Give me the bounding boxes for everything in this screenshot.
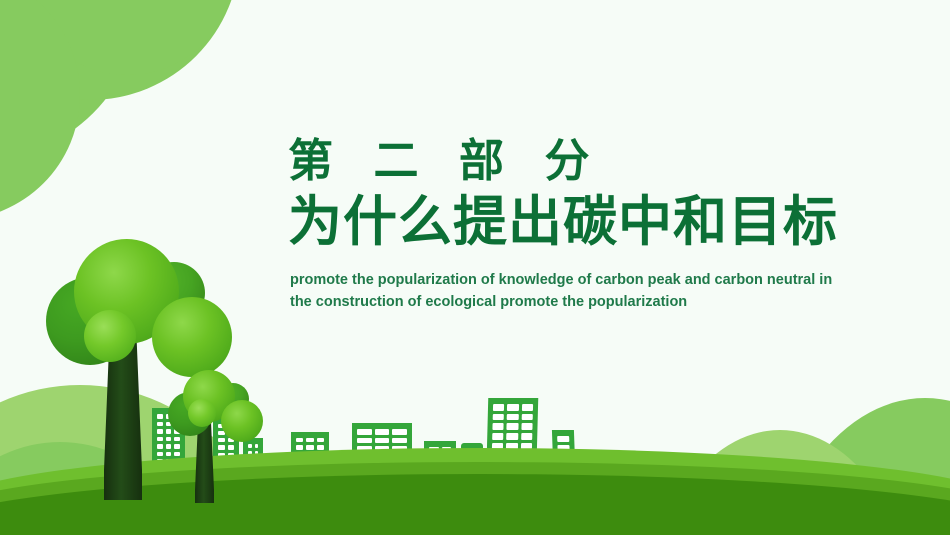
building-window bbox=[557, 436, 569, 442]
building-window bbox=[375, 438, 390, 444]
building-window bbox=[521, 414, 533, 421]
section-number-title: 第 二 部 分 bbox=[288, 134, 888, 187]
building-window bbox=[357, 438, 372, 444]
building-window bbox=[506, 433, 518, 440]
small-tree-leaf-small-left bbox=[188, 399, 216, 427]
building-window bbox=[392, 438, 407, 444]
building-window bbox=[492, 433, 504, 440]
building-window bbox=[507, 423, 519, 430]
building-window bbox=[255, 444, 259, 448]
building-window bbox=[375, 429, 390, 435]
building-window bbox=[174, 452, 180, 457]
building-window bbox=[392, 429, 407, 435]
building-window bbox=[166, 429, 172, 434]
building-window bbox=[296, 445, 303, 449]
big-tree-leaf-right bbox=[152, 297, 232, 377]
building-window bbox=[296, 438, 303, 442]
building-window bbox=[521, 423, 533, 430]
title-text-block: 第 二 部 分 为什么提出碳中和目标 promote the populariz… bbox=[288, 134, 888, 314]
building-window bbox=[507, 404, 519, 411]
section-subtitle: promote the popularization of knowledge … bbox=[290, 269, 850, 314]
building-window bbox=[157, 414, 163, 419]
building-window bbox=[507, 414, 519, 421]
small-tree-leaf-right bbox=[221, 400, 263, 442]
building-window bbox=[306, 445, 313, 449]
section-main-title: 为什么提出碳中和目标 bbox=[288, 191, 888, 255]
building-window bbox=[157, 444, 163, 449]
building-window bbox=[157, 437, 163, 442]
building-window bbox=[521, 433, 533, 440]
building-window bbox=[157, 422, 163, 427]
building-window bbox=[174, 444, 180, 449]
building-window bbox=[174, 437, 180, 442]
building-window bbox=[306, 438, 313, 442]
building-window bbox=[493, 404, 505, 411]
building-window bbox=[166, 437, 172, 442]
building-window bbox=[157, 429, 163, 434]
building-window bbox=[218, 438, 225, 442]
building-window bbox=[218, 445, 225, 449]
building-window bbox=[248, 444, 252, 448]
building-window bbox=[228, 445, 235, 449]
building-window bbox=[492, 423, 504, 430]
building-window bbox=[166, 452, 172, 457]
building-window bbox=[493, 414, 505, 421]
building-window bbox=[157, 452, 163, 457]
big-tree-leaf-small-left bbox=[84, 310, 136, 362]
building-window bbox=[357, 429, 372, 435]
building-window bbox=[166, 444, 172, 449]
slide-canvas: 第 二 部 分 为什么提出碳中和目标 promote the populariz… bbox=[0, 0, 950, 535]
building-window bbox=[317, 445, 324, 449]
building-window bbox=[317, 438, 324, 442]
building-window bbox=[522, 404, 534, 411]
